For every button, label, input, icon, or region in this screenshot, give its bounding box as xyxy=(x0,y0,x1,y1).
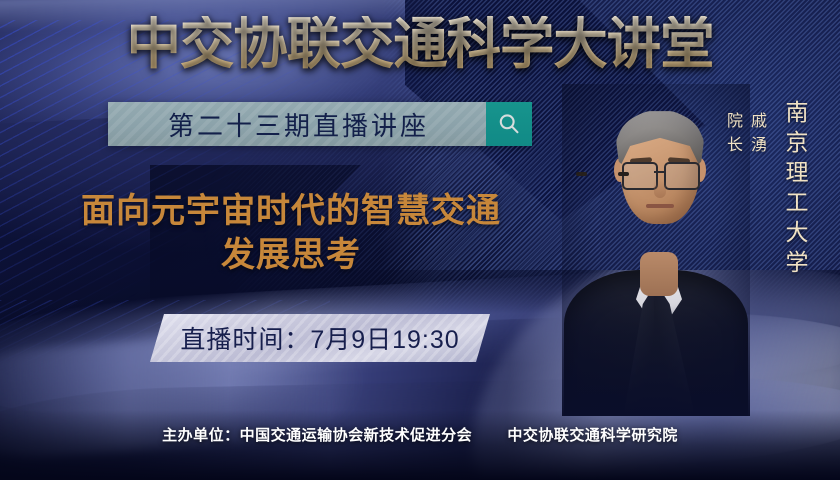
episode-bar[interactable]: 第二十三期直播讲座 xyxy=(108,102,532,146)
portrait-eye-left xyxy=(576,172,587,176)
live-lecture-poster: 中交协联交通科学大讲堂 第二十三期直播讲座 面向元宇宙时代的智慧交通 发展思考 … xyxy=(0,0,840,480)
organizer-footer: 主办单位：中国交通运输协会新技术促进分会 中交协联交通科学研究院 xyxy=(0,424,840,445)
search-icon[interactable] xyxy=(486,102,532,146)
page-title: 中交协联交通科学大讲堂 xyxy=(119,16,720,72)
portrait-eye-right xyxy=(618,172,629,176)
lecture-title: 面向元宇宙时代的智慧交通 发展思考 xyxy=(36,190,546,277)
episode-label: 第二十三期直播讲座 xyxy=(108,102,486,146)
speaker-name: 戚湧 xyxy=(748,112,765,160)
live-time-badge: 直播时间：7月9日19:30 xyxy=(150,314,490,362)
speaker-affiliation: 南京理工大学 xyxy=(778,100,812,280)
speaker-name-title: 戚湧 院长 xyxy=(720,112,768,160)
organizer-secondary: 中交协联交通科学研究院 xyxy=(507,427,678,444)
organizer-primary: 主办单位：中国交通运输协会新技术促进分会 xyxy=(162,427,472,444)
live-time-label: 直播时间：7月9日19:30 xyxy=(180,320,459,356)
portrait-bottom-fade xyxy=(562,306,750,416)
lecture-title-line-2: 发展思考 xyxy=(36,234,546,278)
lecture-title-line-1: 面向元宇宙时代的智慧交通 xyxy=(36,190,546,234)
silk-bottom-shadow xyxy=(0,410,840,480)
speaker-title: 院长 xyxy=(724,112,741,160)
